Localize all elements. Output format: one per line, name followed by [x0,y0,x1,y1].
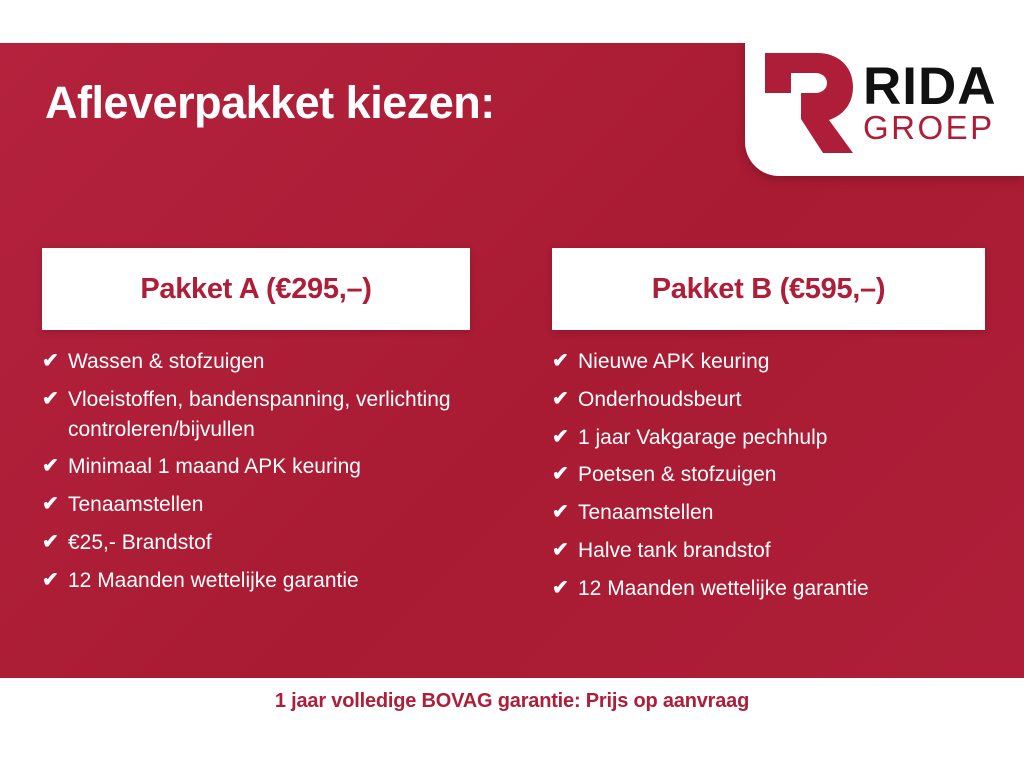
feature-text: 1 jaar Vakgarage pechhulp [578,423,985,453]
check-icon: ✔ [552,574,578,602]
check-icon: ✔ [42,452,68,480]
feature-text: Minimaal 1 maand APK keuring [68,452,470,482]
list-item: ✔ Nieuwe APK keuring [552,347,985,377]
list-item: ✔ 1 jaar Vakgarage pechhulp [552,423,985,453]
feature-text: Tenaamstellen [68,490,470,520]
check-icon: ✔ [552,423,578,451]
check-icon: ✔ [552,498,578,526]
list-item: ✔ 12 Maanden wettelijke garantie [42,566,470,596]
footer-note: 1 jaar volledige BOVAG garantie: Prijs o… [275,690,749,768]
logo-secondary-text: GROEP [863,113,995,144]
package-a-feature-list: ✔ Wassen & stofzuigen ✔ Vloeistoffen, ba… [42,347,470,596]
check-icon: ✔ [42,347,68,375]
list-item: ✔ Halve tank brandstof [552,536,985,566]
feature-text: 12 Maanden wettelijke garantie [578,574,985,604]
slide-root: Afleverpakket kiezen: RIDA GROEP Pakket … [0,0,1024,768]
feature-text: Vloeistoffen, bandenspanning, verlichtin… [68,385,470,445]
feature-text: Onderhoudsbeurt [578,385,985,415]
feature-text: 12 Maanden wettelijke garantie [68,566,470,596]
list-item: ✔ Minimaal 1 maand APK keuring [42,452,470,482]
package-a-title: Pakket A (€295,–) [140,273,371,306]
feature-text: €25,- Brandstof [68,528,470,558]
check-icon: ✔ [552,347,578,375]
feature-text: Tenaamstellen [578,498,985,528]
check-icon: ✔ [552,536,578,564]
list-item: ✔ Vloeistoffen, bandenspanning, verlicht… [42,385,470,445]
package-b-header-card[interactable]: Pakket B (€595,–) [552,248,985,330]
package-column-a: Pakket A (€295,–) ✔ Wassen & stofzuigen … [42,248,470,604]
list-item: ✔ €25,- Brandstof [42,528,470,558]
footer-band: 1 jaar volledige BOVAG garantie: Prijs o… [0,678,1024,768]
list-item: ✔ 12 Maanden wettelijke garantie [552,574,985,604]
crimson-stage: Afleverpakket kiezen: RIDA GROEP Pakket … [0,43,1024,678]
check-icon: ✔ [552,385,578,413]
check-icon: ✔ [42,490,68,518]
logo-primary-text: RIDA [863,62,997,111]
package-b-feature-list: ✔ Nieuwe APK keuring ✔ Onderhoudsbeurt ✔… [552,347,985,604]
package-b-title: Pakket B (€595,–) [652,273,886,306]
check-icon: ✔ [42,566,68,594]
list-item: ✔ Onderhoudsbeurt [552,385,985,415]
logo-wordmark: RIDA GROEP [863,62,997,144]
rida-r-monogram-icon [759,49,855,157]
check-icon: ✔ [552,460,578,488]
list-item: ✔ Tenaamstellen [552,498,985,528]
check-icon: ✔ [42,385,68,413]
check-icon: ✔ [42,528,68,556]
list-item: ✔ Wassen & stofzuigen [42,347,470,377]
list-item: ✔ Poetsen & stofzuigen [552,460,985,490]
feature-text: Nieuwe APK keuring [578,347,985,377]
feature-text: Halve tank brandstof [578,536,985,566]
package-a-header-card[interactable]: Pakket A (€295,–) [42,248,470,330]
brand-logo-panel: RIDA GROEP [745,43,1024,176]
feature-text: Wassen & stofzuigen [68,347,470,377]
list-item: ✔ Tenaamstellen [42,490,470,520]
page-title: Afleverpakket kiezen: [45,77,495,129]
feature-text: Poetsen & stofzuigen [578,460,985,490]
package-column-b: Pakket B (€595,–) ✔ Nieuwe APK keuring ✔… [552,248,985,612]
